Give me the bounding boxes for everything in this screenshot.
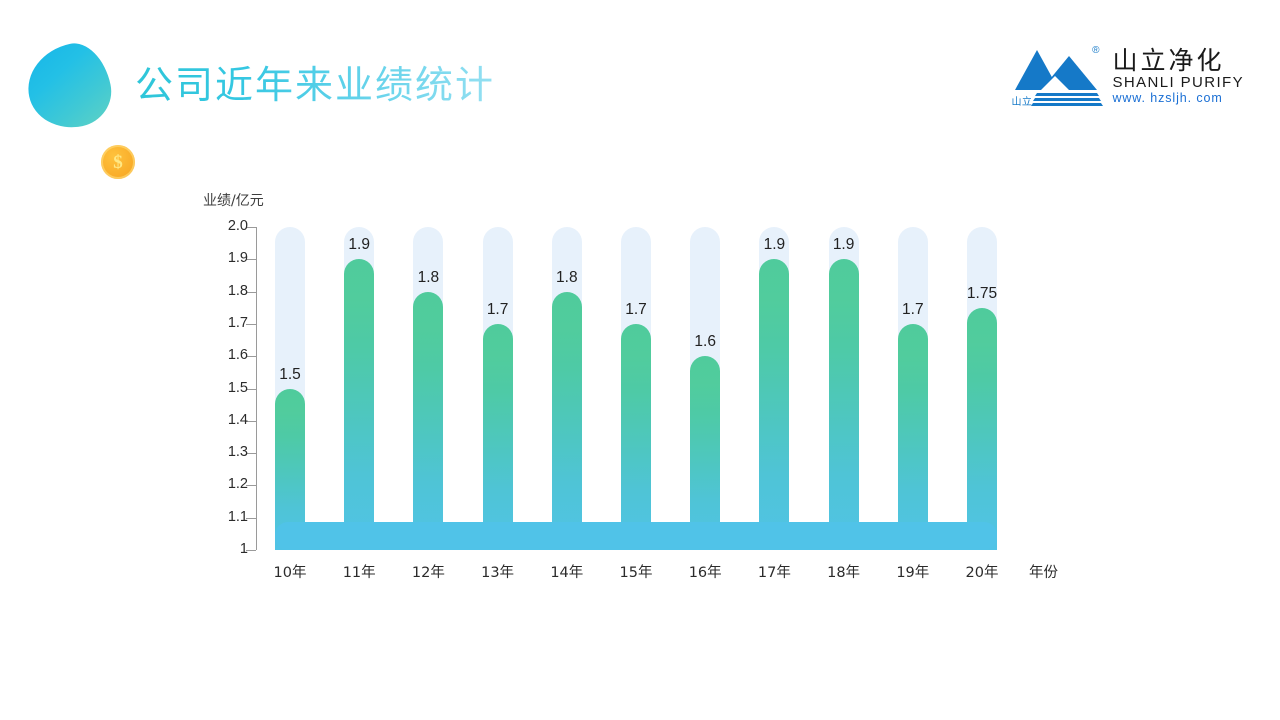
y-axis-tick-label: 1.1	[228, 509, 248, 525]
y-axis-tick-label: 1	[240, 541, 248, 557]
y-axis-tick-label: 1.6	[228, 347, 248, 363]
y-axis-tick-label: 1.2	[228, 476, 248, 492]
y-axis-tick-label: 1.3	[228, 444, 248, 460]
x-axis-category-label: 16年	[670, 561, 740, 582]
chart-base-bar	[275, 522, 997, 550]
bar[interactable]	[967, 308, 997, 550]
bar-value-label: 1.75	[950, 285, 1014, 303]
bar[interactable]	[552, 292, 582, 550]
x-axis-category-label: 13年	[463, 561, 533, 582]
bar-value-label: 1.9	[742, 236, 806, 254]
y-axis-line	[256, 227, 257, 550]
bar[interactable]	[413, 292, 443, 550]
bar-value-label: 1.9	[327, 236, 391, 254]
x-axis-category-label: 11年	[324, 561, 394, 582]
y-axis-tick-label: 1.5	[228, 380, 248, 396]
bar-value-label: 1.8	[535, 269, 599, 287]
bar-value-label: 1.8	[396, 269, 460, 287]
bar-value-label: 1.7	[881, 301, 945, 319]
bar-value-label: 1.7	[466, 301, 530, 319]
x-axis-category-label: 20年	[947, 561, 1017, 582]
bar-value-label: 1.5	[258, 366, 322, 384]
bar[interactable]	[483, 324, 513, 550]
bar[interactable]	[690, 356, 720, 550]
x-axis-category-label: 15年	[601, 561, 671, 582]
y-axis-tick-label: 2.0	[228, 218, 248, 234]
x-axis-title: 年份	[1029, 561, 1058, 582]
bar[interactable]	[829, 259, 859, 550]
bar[interactable]	[898, 324, 928, 550]
bar[interactable]	[759, 259, 789, 550]
y-axis-title: 业绩/亿元	[203, 190, 264, 210]
performance-bar-chart: 业绩/亿元 2.01.91.81.71.61.51.41.31.21.11 1.…	[0, 0, 1280, 720]
bar-value-label: 1.7	[604, 301, 668, 319]
y-axis-tick-label: 1.9	[228, 250, 248, 266]
x-axis-category-label: 17年	[739, 561, 809, 582]
x-axis-category-label: 18年	[809, 561, 879, 582]
y-axis-tick-label: 1.8	[228, 283, 248, 299]
x-axis-category-label: 10年	[255, 561, 325, 582]
bar[interactable]	[621, 324, 651, 550]
bar-value-label: 1.9	[812, 236, 876, 254]
bar[interactable]	[344, 259, 374, 550]
y-axis-tick-label: 1.4	[228, 412, 248, 428]
x-axis-category-label: 14年	[532, 561, 602, 582]
y-axis-tick-label: 1.7	[228, 315, 248, 331]
x-axis-category-label: 19年	[878, 561, 948, 582]
bar-value-label: 1.6	[673, 333, 737, 351]
x-axis-category-label: 12年	[393, 561, 463, 582]
